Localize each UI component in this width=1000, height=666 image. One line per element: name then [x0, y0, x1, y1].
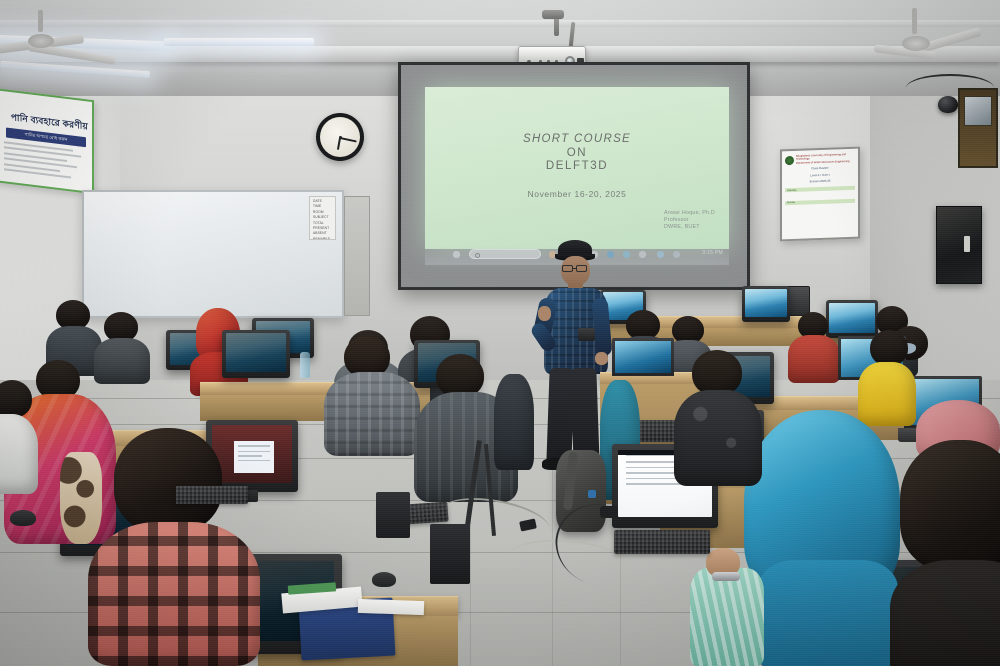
notice-row — [785, 195, 855, 197]
wall-column-left — [344, 196, 370, 316]
cabinet-glass — [964, 96, 992, 126]
media-player-icon — [673, 251, 680, 258]
whiteboard: DATE TIME ROOM SUBJECT TOTAL PRESENT ABS… — [82, 190, 344, 318]
cpu-tower — [430, 524, 470, 584]
cpu-tower — [376, 492, 410, 538]
notice-section-b: Sunday — [785, 198, 855, 204]
windows-start-icon — [453, 251, 460, 258]
student-body — [890, 560, 1000, 666]
search-icon — [475, 253, 480, 258]
monitor-screen — [829, 303, 875, 333]
document-page — [234, 441, 274, 473]
credit-name: Anwar Hoque, Ph.D — [664, 210, 715, 217]
electrical-panel — [936, 206, 982, 284]
monitor — [826, 300, 878, 338]
student-body — [0, 414, 38, 494]
backpack-zipper-pull — [588, 490, 596, 498]
student-head — [870, 330, 908, 366]
slide-title-block: SHORT COURSE ON DELFT3D — [425, 133, 729, 174]
whiteboard-attendance-note: DATE TIME ROOM SUBJECT TOTAL PRESENT ABS… — [309, 196, 336, 240]
note-row: REMARKS — [313, 237, 333, 240]
student-head — [900, 440, 1000, 570]
wall-poster-bengali: পানি ব্যবহারে করণীয় পানির অপচয় রোধ করু… — [0, 88, 94, 194]
laptop-screen — [615, 341, 671, 373]
student-body — [788, 335, 840, 383]
student-body — [88, 522, 260, 666]
slide-title-line1: SHORT COURSE — [425, 133, 729, 147]
credit-role: Professor — [664, 217, 715, 224]
notice-board-schedule: Bangladesh University of Engineering and… — [780, 147, 860, 242]
student-body — [494, 374, 534, 470]
presenter-hand-left — [538, 306, 551, 321]
notice-subtitle-1: Class Routine — [785, 166, 855, 172]
notice-subtitle-3: Session 2024-25 — [785, 179, 855, 185]
ceiling-conduit — [0, 20, 1000, 27]
ceiling-fan-left — [10, 10, 140, 76]
student-scarf — [60, 452, 102, 544]
notice-row — [785, 194, 855, 196]
slide-title-line3: DELFT3D — [425, 160, 729, 174]
monitor-screen — [226, 333, 286, 371]
keyboard — [176, 486, 248, 504]
student-body — [674, 390, 762, 486]
laptop — [612, 338, 674, 376]
notice-row — [785, 205, 855, 207]
chrome-icon — [657, 251, 664, 258]
wall-cabinet-right — [958, 88, 998, 168]
mouse — [10, 510, 36, 526]
classroom-photo: SHORT COURSE ON DELFT3D November 16-20, … — [0, 0, 1000, 666]
student-head — [114, 428, 222, 532]
slide-presenter-credit: Anwar Hoque, Ph.D Professor DWRE, BUET — [664, 210, 715, 231]
power-adapter — [600, 506, 618, 518]
notice-board-header: Bangladesh University of Engineering and… — [785, 153, 855, 166]
taskbar-clock: 3:15 PM — [702, 250, 723, 256]
monitor — [742, 286, 790, 322]
wall-clock — [316, 113, 364, 161]
monitor-screen — [212, 425, 293, 483]
student-mint-sleeve — [690, 568, 764, 666]
store-icon — [639, 251, 646, 258]
mouse — [372, 572, 396, 587]
presentation-slide: SHORT COURSE ON DELFT3D November 16-20, … — [425, 87, 729, 249]
student-body — [324, 372, 420, 456]
fluorescent-tube-light — [164, 38, 314, 46]
monitor-screen — [745, 289, 787, 318]
monitor — [222, 330, 290, 378]
clock-center-pin — [339, 136, 342, 139]
presenter-glasses — [576, 265, 587, 272]
university-logo-icon — [785, 156, 794, 165]
clock-minute-hand — [340, 137, 357, 142]
document-window — [212, 425, 293, 483]
notice-section-a: Saturday — [785, 186, 855, 192]
ceiling-fan-right — [880, 8, 1000, 72]
slide-title-line2: ON — [425, 147, 729, 161]
presenter-id-badge — [578, 328, 595, 341]
keyboard — [614, 530, 710, 554]
wristwatch — [712, 572, 740, 581]
presenter-glasses-bridge — [573, 268, 577, 269]
light-switch[interactable] — [964, 236, 970, 252]
papers-on-desk — [358, 599, 424, 615]
notice-subtitle-2: Level-4 / Term-I — [785, 173, 855, 179]
student-hijab-drape — [758, 560, 898, 666]
clock-face — [320, 117, 360, 157]
notice-row — [785, 193, 855, 195]
presenter-glasses — [562, 265, 573, 272]
credit-affiliation: DWRE, BUET — [664, 224, 715, 231]
student-body — [94, 338, 150, 384]
water-bottle — [300, 352, 310, 378]
clock-hour-hand — [337, 138, 341, 150]
student-body — [858, 362, 916, 426]
student-head — [0, 380, 32, 418]
presenter-hand-right — [595, 352, 608, 365]
slide-date: November 16-20, 2025 — [425, 189, 729, 199]
